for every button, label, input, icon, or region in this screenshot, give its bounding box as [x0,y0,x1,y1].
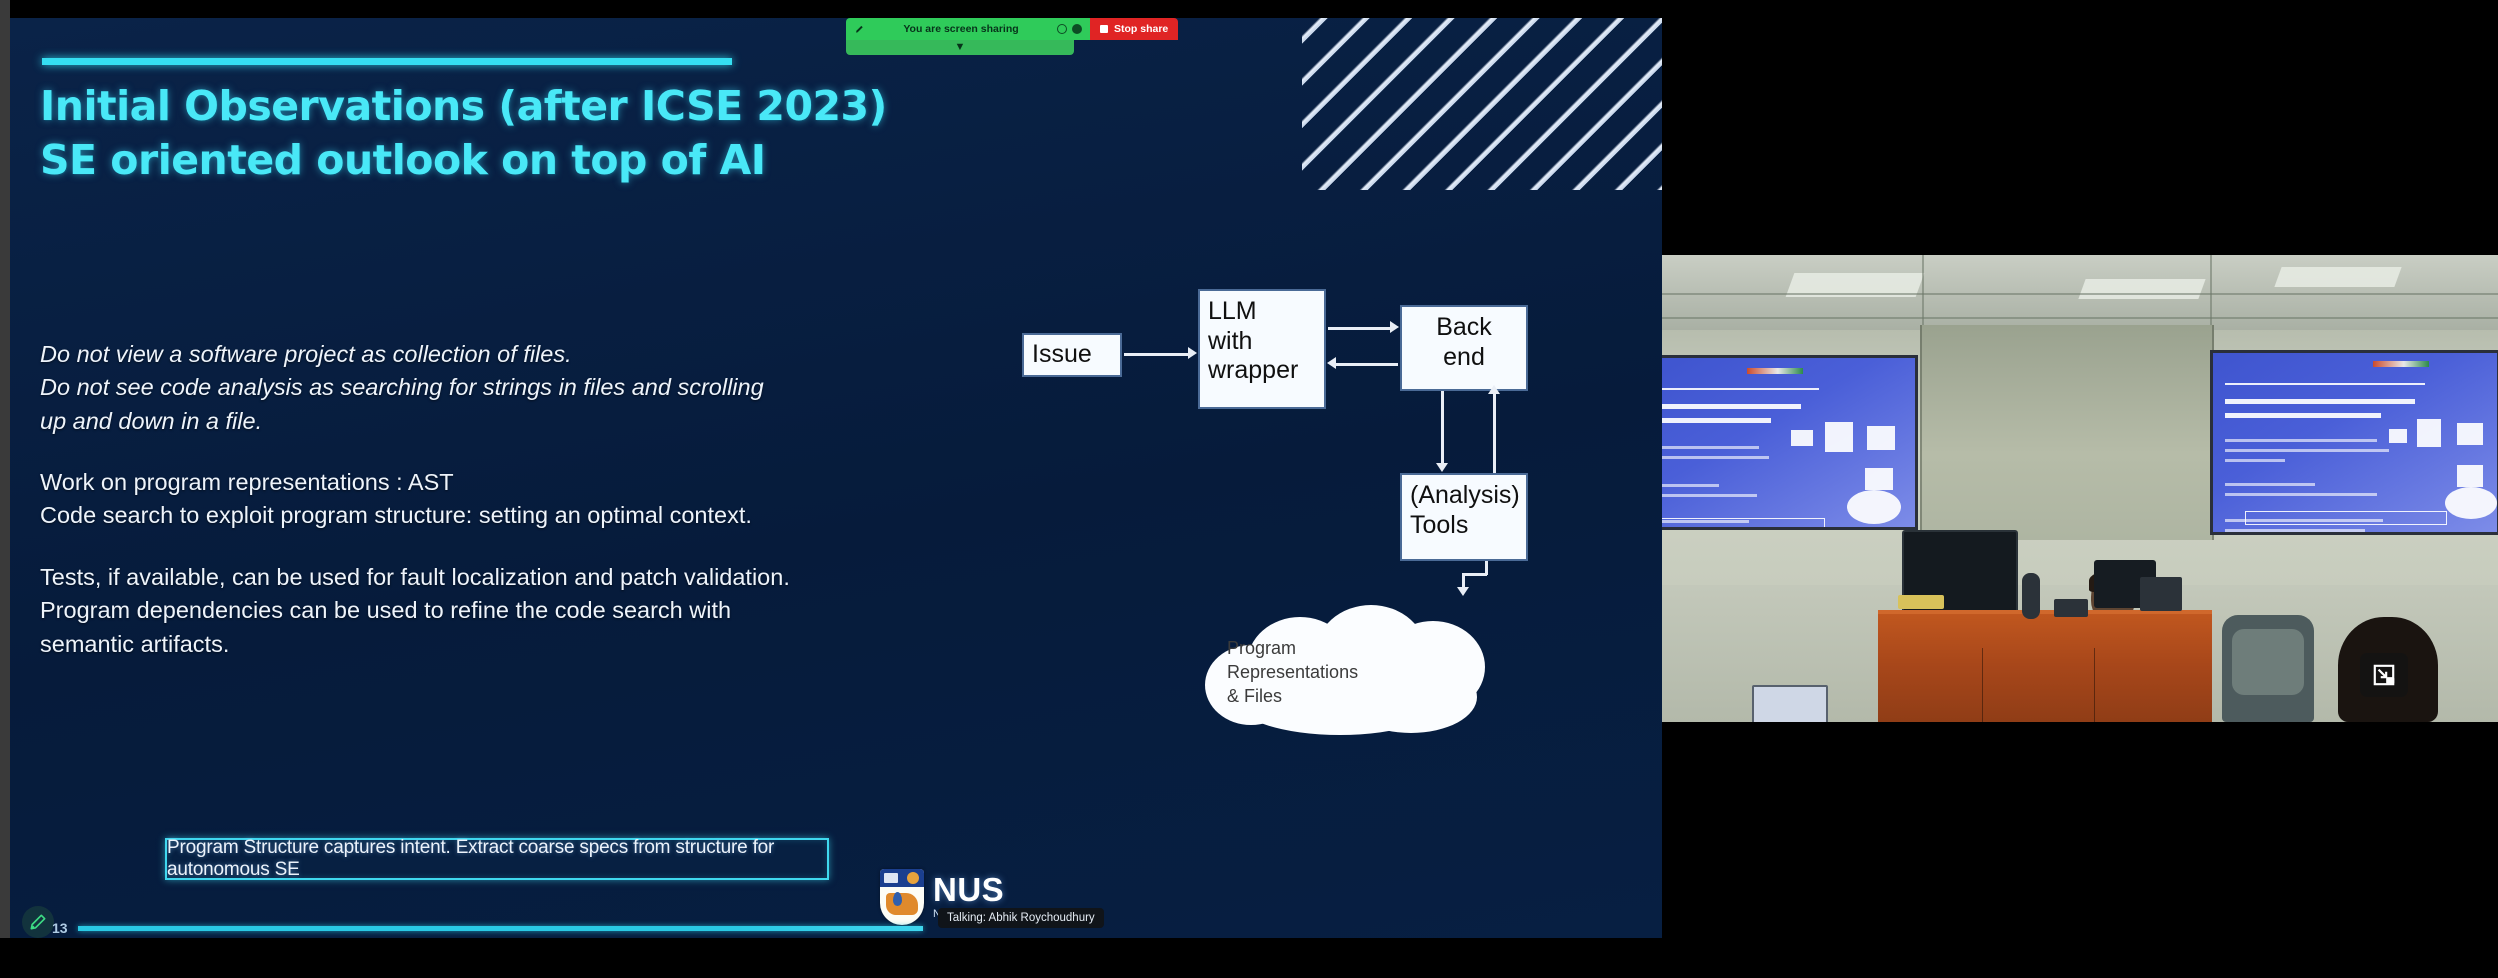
lectern-podium [1878,610,2212,722]
slide-progress-fill [78,926,923,931]
diagram-box-llm-with-wrapper: LLM with wrapper [1198,289,1326,409]
paragraph-2-line-1: Work on program representations : AST [40,466,980,499]
mini-title-line [2225,399,2415,404]
arrow-issue-to-llm [1124,353,1188,356]
video-letterbox-top [1662,18,2498,255]
back-line-2: end [1410,343,1518,373]
presentation-slide[interactable]: Initial Observations (after ICSE 2023) S… [10,18,1662,938]
nus-crest-icon [880,869,924,925]
mini-title-line [1662,404,1801,409]
stop-share-button[interactable]: Stop share [1090,18,1178,40]
office-chair [2222,615,2314,722]
camera-icon[interactable] [1072,24,1082,34]
paragraph-3-line-2: Program dependencies can be used to refi… [40,594,980,627]
mini-diagram-box [1867,426,1895,450]
paragraph-3: Tests, if available, can be used for fau… [40,561,980,661]
share-expand-button[interactable]: ▼ [846,40,1074,55]
podium-equipment [1898,595,1944,609]
arrowhead-issue-to-llm [1188,347,1197,359]
picture-in-picture-button[interactable] [2360,653,2408,697]
top-letterbox-bar [0,0,2498,18]
arrow-tools-to-backend [1493,393,1496,473]
screen-root: Initial Observations (after ICSE 2023) S… [0,0,2498,978]
mini-callout-box [1662,518,1825,530]
podium-door-seam [2094,648,2095,722]
paragraph-1: Do not view a software project as collec… [40,338,980,438]
page-title: Initial Observations (after ICSE 2023) S… [40,86,1180,181]
mini-callout-box [2245,511,2447,525]
mini-body-line [2225,439,2377,442]
mini-body-line [1662,446,1759,449]
cloud-line-2: Representations [1227,661,1358,685]
paragraph-3-line-1: Tests, if available, can be used for fau… [40,561,980,594]
picture-in-picture-icon [2371,662,2397,688]
mini-title-rule [2225,383,2425,385]
paragraph-2: Work on program representations : AST Co… [40,466,980,533]
pen-annotate-icon [28,912,48,932]
mini-diagram-cloud [2445,487,2497,519]
slide-body-text: Do not view a software project as collec… [40,338,980,689]
diagram-box-issue: Issue [1022,333,1122,377]
crest-band [880,869,924,887]
arrowhead-backend-to-llm [1327,357,1336,369]
crest-drop-icon [893,892,902,906]
diagram-box-issue-label: Issue [1032,340,1092,370]
llm-line-3: wrapper [1208,356,1316,386]
mini-title-line [1662,418,1771,423]
slide-number: 13 [52,920,68,936]
audience-laptop [1752,685,1828,722]
callout-box: Program Structure captures intent. Extra… [165,838,829,880]
speaker-video-feed[interactable] [1662,255,2498,722]
cloud-program-representations: Program Representations & Files [1195,603,1495,738]
ceiling-grid-line [1662,317,2498,319]
mini-diagram-box [1825,422,1853,452]
cloud-blob [1345,661,1477,733]
ceiling [1662,255,2498,330]
mini-title-line [2225,413,2381,418]
mini-body-line [1662,484,1719,487]
podium-equipment [2022,573,2040,619]
paragraph-2-line-2: Code search to exploit program structure… [40,499,980,532]
chevron-down-icon: ▼ [955,42,966,53]
mini-diagram-box [2457,423,2483,445]
crest-star-icon [907,872,919,884]
slide-title-line1: Initial Observations (after ICSE 2023) [40,82,887,130]
mini-diagram-box [2457,465,2483,487]
crest-book-icon [884,873,898,883]
architecture-diagram: Issue LLM with wrapper Back end (Analysi… [1000,283,1660,753]
llm-line-2: with [1208,327,1316,357]
ceiling-grid-line [2210,255,2212,330]
sharing-status-banner[interactable]: You are screen sharing [846,18,1090,40]
arrowhead-tools-to-cloud [1457,587,1469,596]
arrow-backend-to-llm [1336,363,1398,366]
cloud-label: Program Representations & Files [1227,637,1358,708]
callout-text: Program Structure captures intent. Extra… [167,837,827,881]
share-controls[interactable] [1057,24,1082,34]
diagonal-stripes-decoration [1302,18,1662,190]
ceiling-grid-line [1922,255,1924,330]
talking-label: Talking: Abhik Roychoudhury [947,912,1095,924]
paragraph-3-line-3: semantic artifacts. [40,628,980,661]
bottom-letterbox-bar [0,938,1662,978]
mini-title-rule [1662,388,1819,390]
podium-equipment [2140,577,2182,611]
mini-body-line [2225,529,2365,532]
podium-equipment [2054,599,2088,617]
mini-body-line [1662,494,1757,497]
paragraph-1-line-1: Do not view a software project as collec… [40,338,980,371]
stop-square-icon [1100,25,1108,33]
arrowhead-backend-to-tools [1436,463,1448,472]
sharing-status-label: You are screen sharing [873,23,1049,35]
crest-lion-icon [886,893,918,915]
arrowhead-llm-to-backend [1390,321,1399,333]
tools-line-2: Tools [1410,511,1518,541]
paragraph-1-line-3: up and down in a file. [40,405,980,438]
llm-line-1: LLM [1208,297,1316,327]
paragraph-1-line-2: Do not see code analysis as searching fo… [40,371,980,404]
pause-circle-icon[interactable] [1057,24,1067,34]
arrow-llm-to-backend [1328,327,1390,330]
projection-screen-left [1662,355,1918,530]
mini-diagram-box [2417,419,2441,447]
tools-line-1: (Analysis) [1410,481,1518,511]
screen-share-toolbar[interactable]: You are screen sharing Stop share [846,18,1178,40]
cloud-line-1: Program [1227,637,1358,661]
mini-diagram-box [2389,429,2407,443]
talking-indicator: Talking: Abhik Roychoudhury [938,908,1104,928]
podium-door-seam [1982,648,1983,722]
mini-body-line [2225,493,2377,496]
diagram-box-analysis-tools: (Analysis) Tools [1400,473,1528,561]
mini-diagram-box [1865,468,1893,490]
ceiling-light [2078,279,2205,299]
diagram-box-back-end: Back end [1400,305,1528,391]
center-wall-panel [1920,325,2214,540]
ceiling-light [2274,267,2401,287]
window-left-edge [0,0,10,978]
mini-body-line [1662,456,1769,459]
video-letterbox-bottom [1662,722,2498,978]
nus-acronym: NUS [933,874,1029,906]
back-line-1: Back [1410,313,1518,343]
annotate-tool-button[interactable] [22,906,54,938]
mini-diagram-cloud [1847,490,1901,524]
arrowhead-tools-to-backend [1488,385,1500,394]
slide-title-line2: SE oriented outlook on top of AI [40,140,1180,181]
projection-screen-right [2210,350,2498,535]
ceiling-grid-line [1662,293,2498,295]
mini-flag-icon [2373,361,2429,367]
cloud-line-3: & Files [1227,685,1358,709]
mini-body-line [2225,459,2285,462]
pencil-icon[interactable] [854,23,865,36]
mini-body-line [2225,483,2315,486]
mini-body-line [2225,449,2389,452]
title-underline-rule [42,58,732,65]
arrow-backend-to-tools [1441,391,1444,463]
stop-share-label: Stop share [1114,23,1168,35]
mini-diagram-box [1791,430,1813,446]
arrow-tools-to-cloud-seg2 [1462,573,1487,576]
mini-flag-icon [1747,368,1803,374]
